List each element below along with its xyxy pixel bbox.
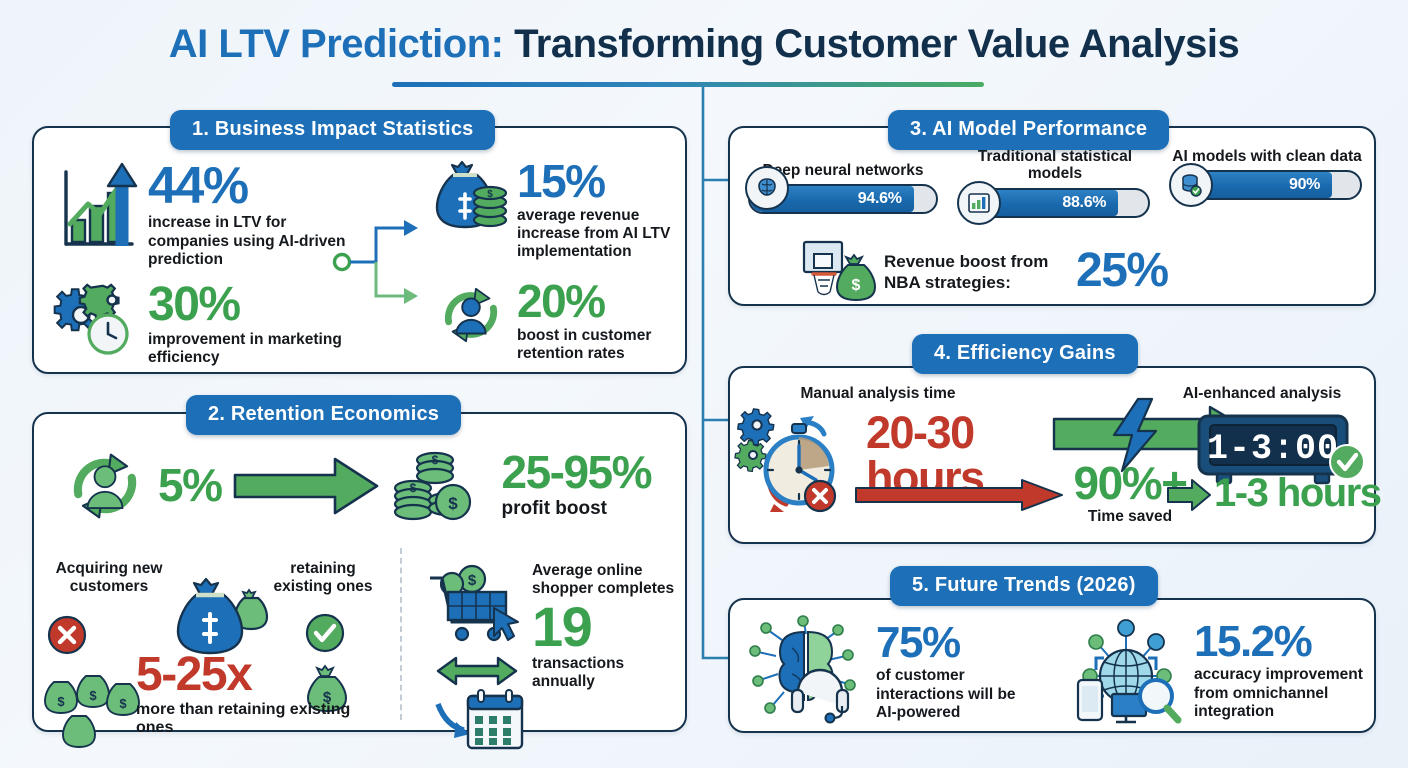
nba-footnote-value: 25% <box>1076 248 1168 294</box>
stat-20-percent: 20% boost in customer retention rates <box>435 278 685 363</box>
stat-30-percent: 30% improvement in marketing efficiency <box>60 280 350 367</box>
small-green-arrow-icon <box>1168 480 1212 510</box>
profit-boost-value: 25-95% <box>501 451 651 495</box>
stat-desc: average revenue increase from AI LTV imp… <box>517 207 685 262</box>
svg-text:$: $ <box>89 688 97 703</box>
multiplier-value: 5-25x <box>136 652 386 698</box>
progress-value: 88.6% <box>1062 194 1118 212</box>
progress-deep-neural: Deep neural networks 94.6% <box>748 162 938 214</box>
svg-text:$: $ <box>410 481 417 495</box>
nba-footnote-text: Revenue boost from NBA strategies: <box>884 252 1064 292</box>
svg-text:$: $ <box>57 694 65 709</box>
badge-future-trends: 5. Future Trends (2026) <box>890 566 1158 606</box>
bar-chart-icon <box>957 181 1001 225</box>
stat-15-2-percent: 15.2% accuracy improvement from omnichan… <box>1068 618 1366 724</box>
time-saved-label: Time saved <box>1060 508 1200 526</box>
right-arrow-icon <box>231 455 381 517</box>
customer-retention-cycle-icon <box>435 278 507 352</box>
multiplier-desc: more than retaining existing ones <box>136 701 351 739</box>
stat-value: 15% <box>517 160 685 204</box>
shopping-cart-icon: $ <box>428 564 524 650</box>
stat-desc: of customer interactions will be AI-powe… <box>876 667 1036 722</box>
transactions-count: 19 <box>532 600 688 653</box>
coin-stacks-icon: $ $ $ <box>391 440 487 532</box>
stat-15-percent: $ 15% average revenue increase from AI L… <box>435 158 685 262</box>
ai-analysis-value: 1-3 hours <box>1214 474 1381 512</box>
money-bag-coins-icon: $ <box>435 158 507 236</box>
stopwatch-gears-icon <box>744 408 854 516</box>
stat-desc: boost in customer retention rates <box>517 327 685 364</box>
stat-value: 75% <box>876 622 1036 664</box>
clock-display: 1-3:00 <box>1207 429 1339 469</box>
stat-value: 20% <box>517 280 685 324</box>
acquiring-label: Acquiring new customers <box>44 560 174 596</box>
red-arrow-icon <box>856 480 1066 510</box>
svg-text:$: $ <box>468 572 477 589</box>
retention-top-row: 5% $ $ $ 25-95% profit boost <box>62 440 651 532</box>
badge-business-impact: 1. Business Impact Statistics <box>170 110 495 150</box>
nba-footnote: $ Revenue boost from NBA strategies: 25% <box>800 240 1168 302</box>
transactions-trail-text: transactions annually <box>532 655 688 691</box>
svg-text:$: $ <box>119 696 127 711</box>
badge-efficiency-gains: 4. Efficiency Gains <box>912 334 1138 374</box>
section-divider <box>400 548 402 720</box>
calendar-icon <box>434 688 528 754</box>
ai-brain-headset-icon <box>748 618 868 726</box>
badge-ai-model-performance: 3. AI Model Performance <box>888 110 1169 150</box>
infographic-page: AI LTV Prediction: Transforming Customer… <box>0 0 1408 768</box>
growth-chart-icon <box>60 160 138 252</box>
branch-connector <box>330 195 450 335</box>
progress-value: 90% <box>1289 176 1332 194</box>
check-mark-icon <box>302 610 348 656</box>
acquisition-cost-block: Acquiring new customers retaining existi… <box>44 560 389 596</box>
stat-desc: accuracy improvement from omnichannel in… <box>1194 666 1366 721</box>
progress-clean-data: AI models with clean data 90% <box>1172 148 1362 200</box>
svg-text:$: $ <box>852 277 861 294</box>
stat-value: 30% <box>148 282 350 328</box>
ai-analysis-label: AI-enhanced analysis <box>1172 385 1352 403</box>
badge-retention-economics: 2. Retention Economics <box>186 395 461 435</box>
money-bags-group-icon: $ $ $ <box>38 664 148 726</box>
customer-retention-cycle-icon <box>62 443 148 529</box>
omnichannel-network-icon <box>1068 618 1186 724</box>
gears-clock-icon <box>60 280 138 358</box>
progress-label: Traditional statistical models <box>960 148 1150 183</box>
retention-rate-value: 5% <box>158 464 221 508</box>
profit-boost-label: profit boost <box>501 498 651 520</box>
basketball-hoop-money-icon: $ <box>800 240 872 302</box>
stat-value: 15.2% <box>1194 621 1366 663</box>
stat-desc: improvement in marketing efficiency <box>148 331 350 368</box>
stat-desc: increase in LTV for companies using AI-d… <box>148 214 350 269</box>
shopper-lead-text: Average online shopper completes <box>532 562 688 598</box>
stat-value: 44% <box>148 162 350 211</box>
svg-text:$: $ <box>432 453 439 467</box>
svg-text:$: $ <box>449 494 459 513</box>
stat-44-percent: 44% increase in LTV for companies using … <box>60 160 350 269</box>
progress-label: AI models with clean data <box>1172 148 1362 165</box>
progress-traditional-stats: Traditional statistical models 88.6% <box>960 148 1150 218</box>
stat-75-percent: 75% of customer interactions will be AI-… <box>748 618 1036 726</box>
svg-text:$: $ <box>487 189 493 200</box>
progress-value: 94.6% <box>858 190 914 208</box>
brain-icon <box>745 166 789 210</box>
cross-mark-icon <box>44 612 90 658</box>
two-way-arrow-icon <box>434 654 520 688</box>
manual-analysis-label: Manual analysis time <box>778 385 978 403</box>
